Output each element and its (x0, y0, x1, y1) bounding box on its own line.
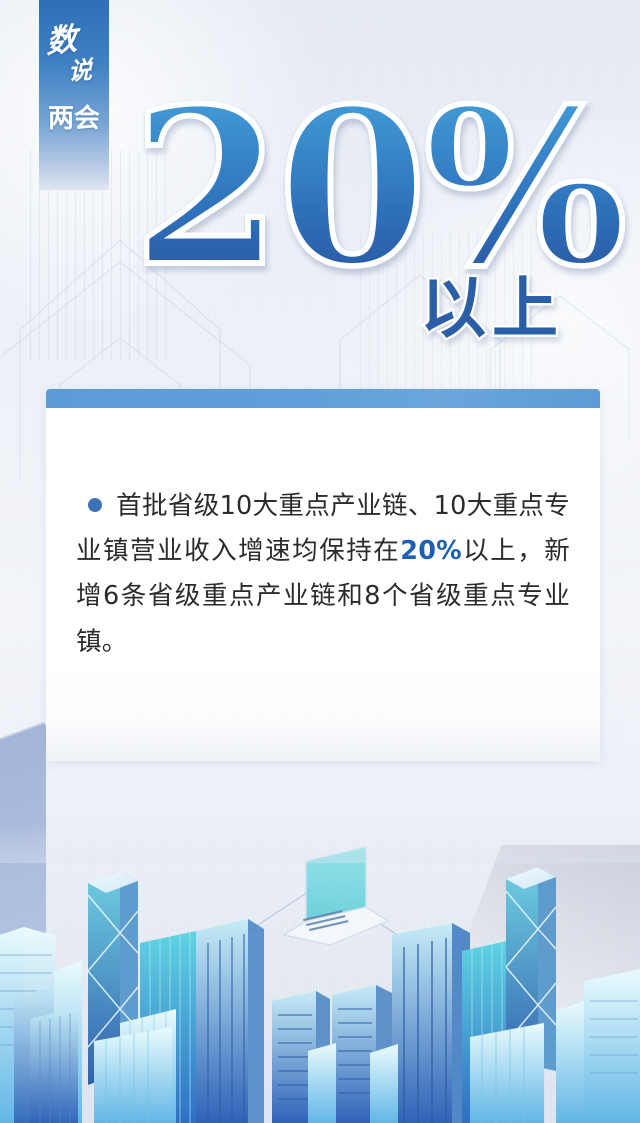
banner-lianghui-label: 两会 (48, 106, 100, 133)
building-center-small (308, 1043, 336, 1123)
card-paragraph: 首批省级10大重点产业链、10大重点专业镇营业收入增速均保持在20%以上，新增6… (76, 484, 570, 666)
content-card: 首批省级10大重点产业链、10大重点专业镇营业收入增速均保持在20%以上，新增6… (46, 389, 600, 761)
headline-suffix: 以上 (420, 276, 564, 342)
building-right-center-short (370, 1044, 398, 1123)
paragraph-highlight: 20% (400, 536, 462, 566)
banner-char-shu: 数 (46, 24, 78, 59)
headline-value: 20% (132, 80, 624, 295)
title-banner: 数 说 两会 (39, 0, 109, 190)
building-far-right-a (556, 1001, 584, 1123)
cityscape-illustration (0, 823, 640, 1123)
headline-block: 20% 以上 (132, 80, 572, 380)
building-right-wide-light (470, 1023, 544, 1123)
building-far-right-b (584, 969, 640, 1123)
bullet-icon (88, 498, 102, 512)
building-striped-left-center (196, 919, 264, 1123)
banner-calligraphy: 数 说 (44, 26, 104, 104)
banner-char-shuo: 说 (68, 58, 93, 85)
building-left-front-tall (30, 1007, 78, 1123)
card-body: 首批省级10大重点产业链、10大重点专业镇营业收入增速均保持在20%以上，新增6… (46, 408, 600, 665)
building-right-center-tall (392, 923, 470, 1123)
poster-root: 数 说 两会 20% 以上 首批省级10大重点产业链、10大重点专业镇营业收入增… (0, 0, 640, 1123)
building-left-wide-light (94, 1027, 172, 1123)
card-top-bar (46, 389, 600, 408)
